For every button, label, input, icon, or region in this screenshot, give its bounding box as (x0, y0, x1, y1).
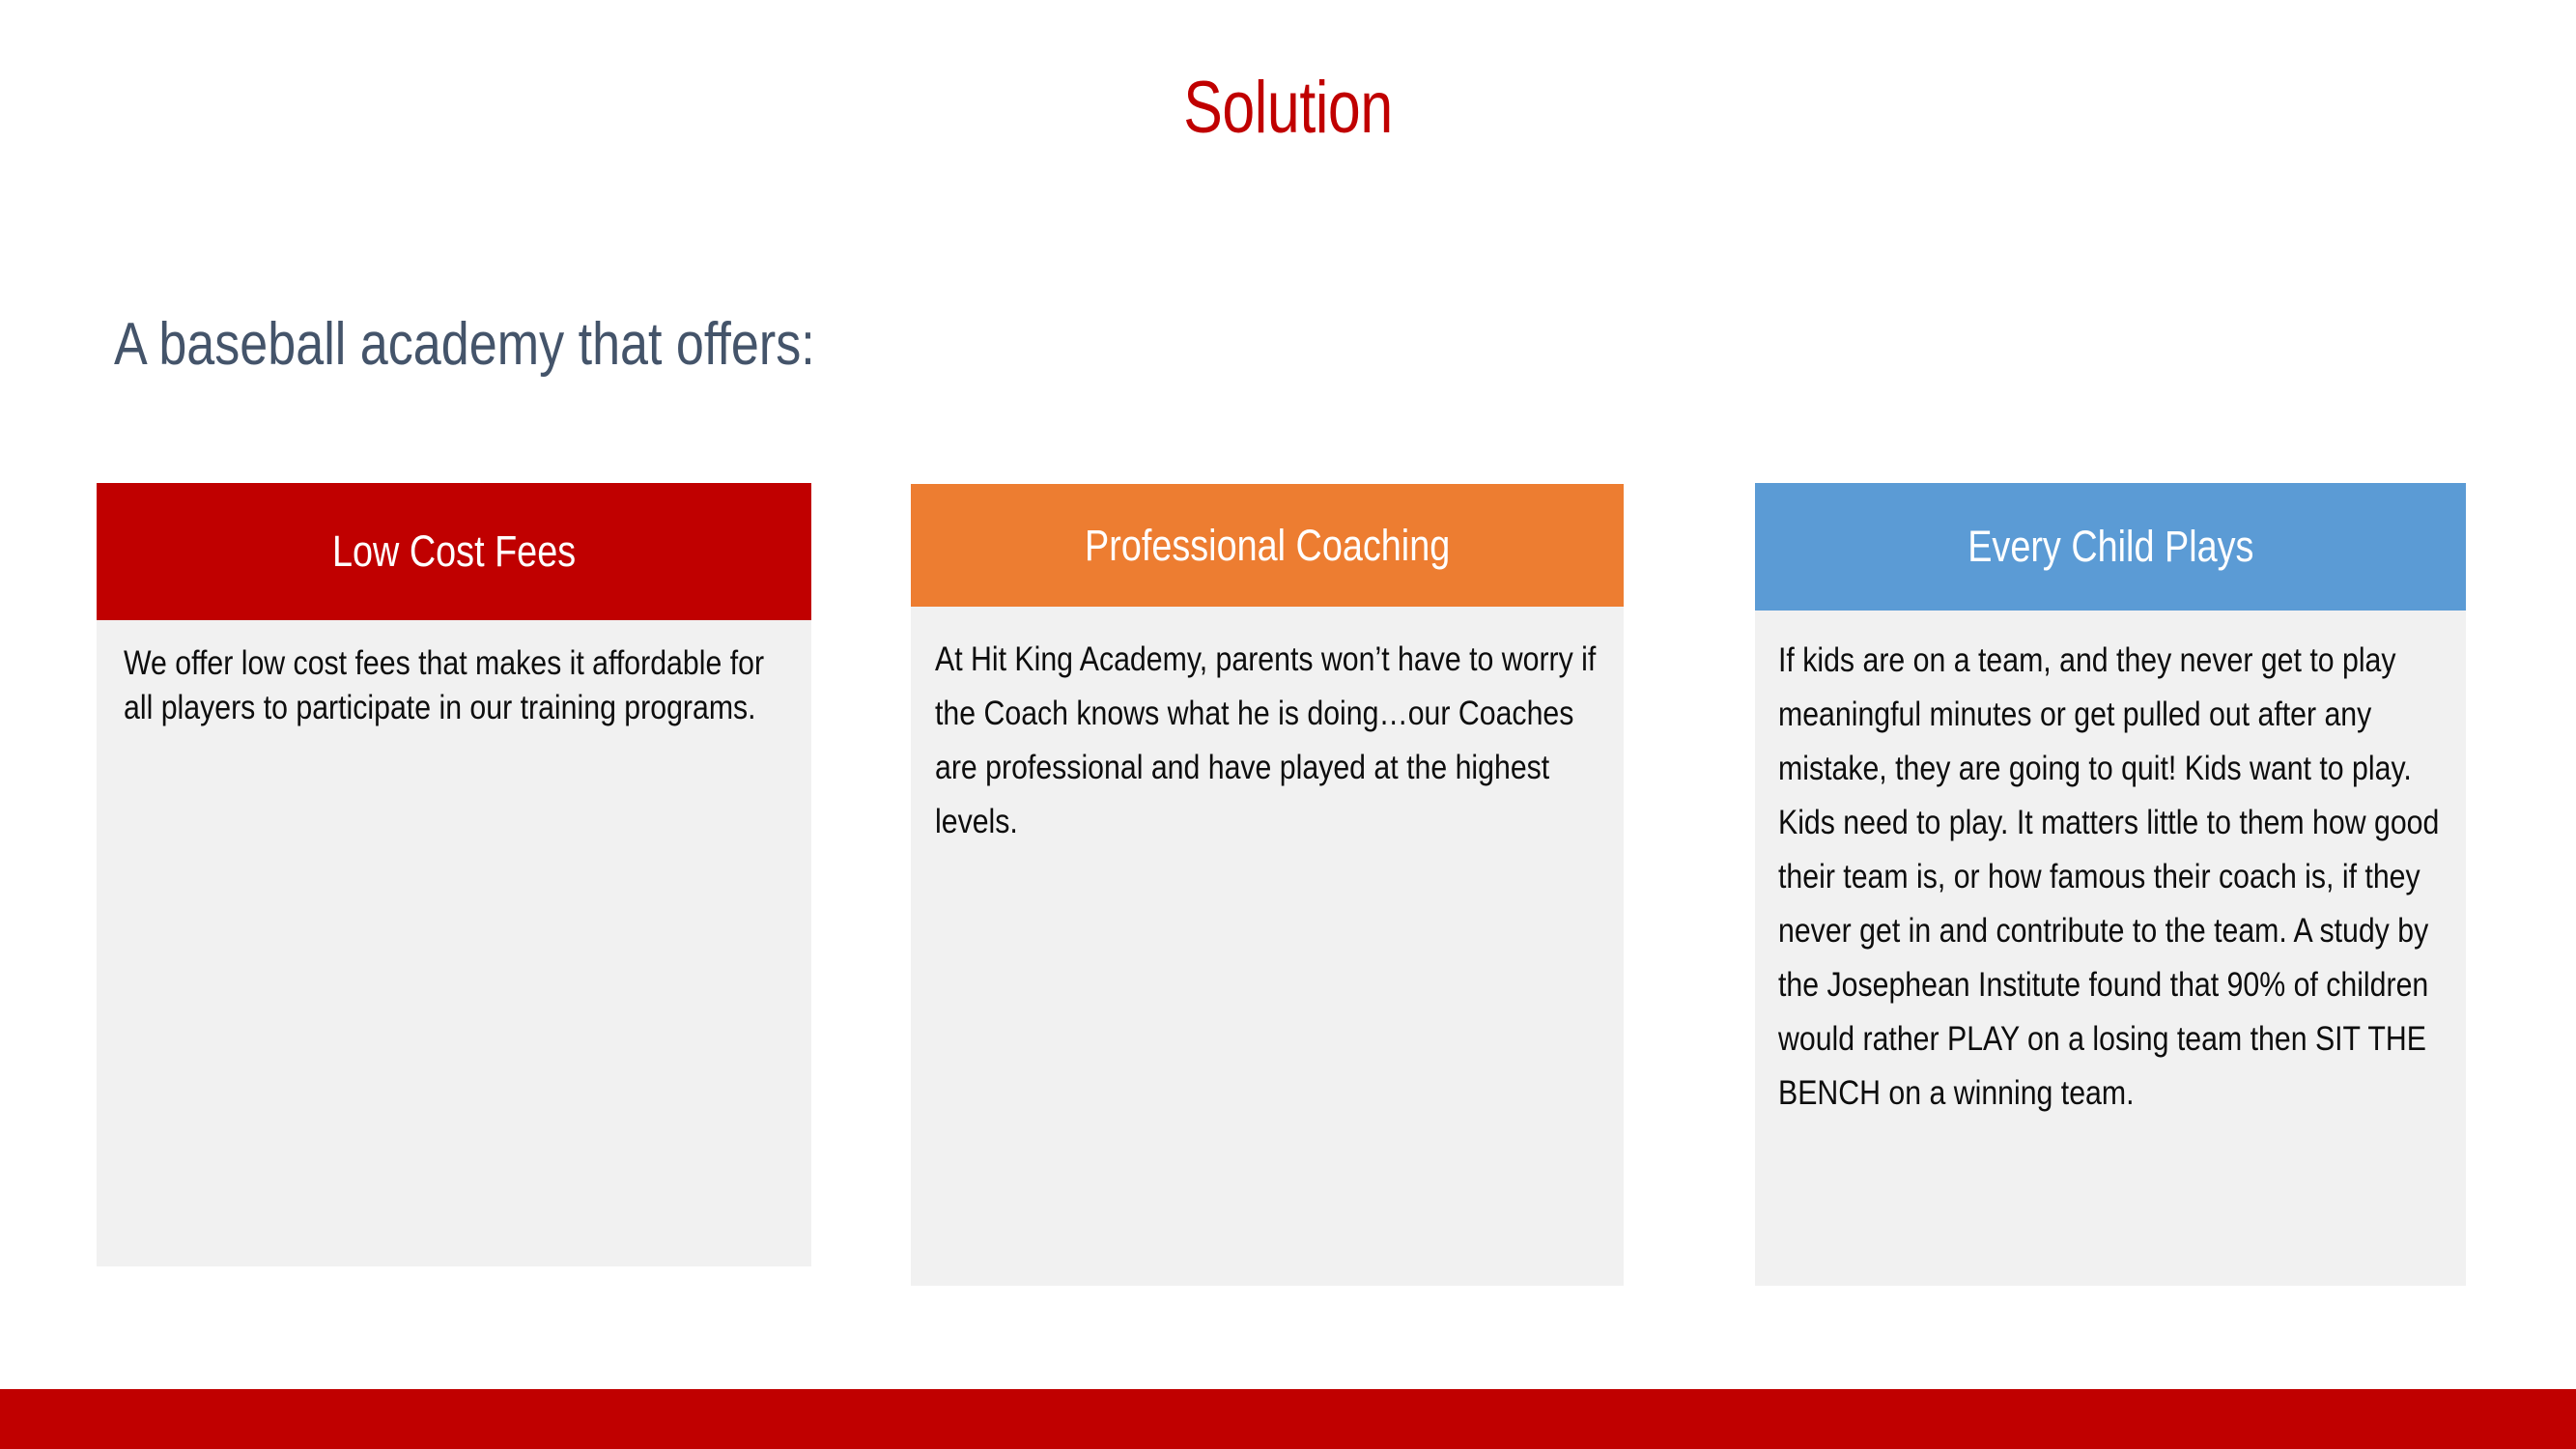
card-body-low-cost-fees: We offer low cost fees that makes it aff… (97, 620, 811, 730)
card-body-text: If kids are on a team, and they never ge… (1778, 634, 2443, 1121)
card-professional-coaching: Professional Coaching At Hit King Academ… (911, 484, 1624, 1286)
footer-accent-bar (0, 1389, 2576, 1449)
card-low-cost-fees: Low Cost Fees We offer low cost fees tha… (97, 483, 811, 1266)
card-body-every-child-plays: If kids are on a team, and they never ge… (1755, 611, 2466, 1121)
card-header-label: Professional Coaching (1085, 521, 1450, 571)
slide-subtitle: A baseball academy that offers: (114, 309, 815, 381)
card-header-label: Every Child Plays (1967, 522, 2253, 572)
card-header-every-child-plays: Every Child Plays (1755, 483, 2466, 611)
card-every-child-plays: Every Child Plays If kids are on a team,… (1755, 483, 2466, 1286)
card-header-professional-coaching: Professional Coaching (911, 484, 1624, 607)
card-header-low-cost-fees: Low Cost Fees (97, 483, 811, 620)
card-body-professional-coaching: At Hit King Academy, parents won’t have … (911, 607, 1624, 849)
card-header-label: Low Cost Fees (332, 526, 576, 577)
card-body-text: At Hit King Academy, parents won’t have … (935, 633, 1599, 849)
page-title: Solution (258, 66, 2319, 151)
slide-canvas: Solution A baseball academy that offers:… (0, 0, 2576, 1449)
card-body-text: We offer low cost fees that makes it aff… (124, 641, 784, 730)
